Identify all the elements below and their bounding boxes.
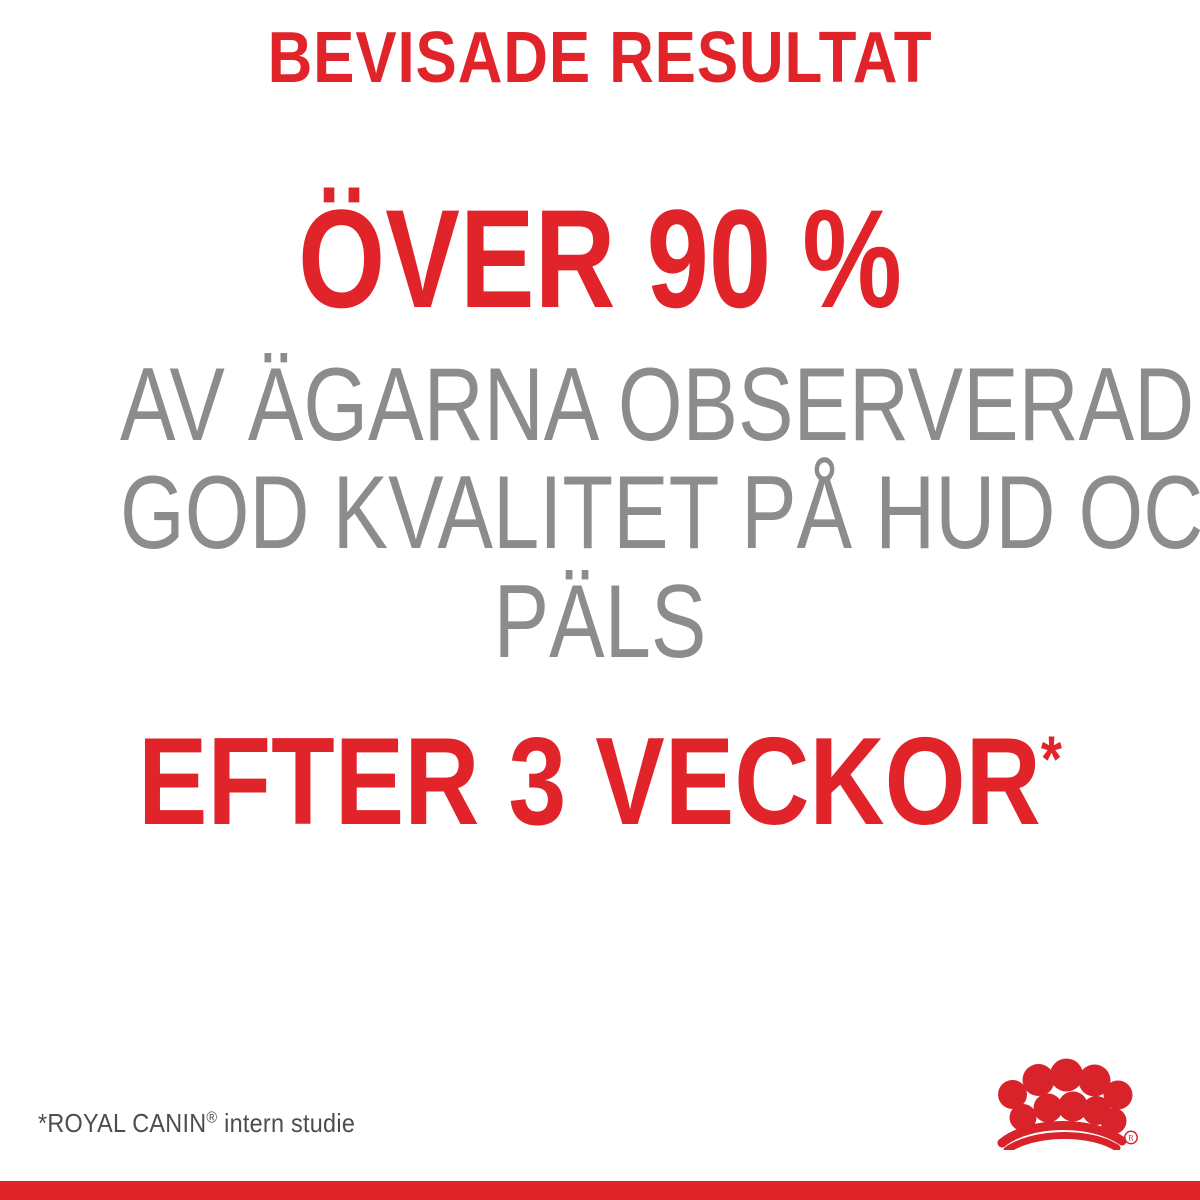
claim-highlight: ÖVER 90 %	[120, 190, 1080, 327]
claim-closing: EFTER 3 VECKOR*	[96, 720, 1104, 844]
royal-canin-claim-poster: BEVISADE RESULTAT ÖVER 90 % AV ÄGARNA OB…	[0, 0, 1200, 1200]
claim-closing-asterisk: *	[1041, 723, 1062, 795]
claim-body-line-3: PÄLS	[120, 568, 1080, 676]
claim-closing-wrap: EFTER 3 VECKOR*	[0, 720, 1200, 844]
crown-dot-upper-2	[1023, 1064, 1055, 1096]
footnote-brand: ROYAL CANIN	[47, 1108, 206, 1138]
crown-arc-lower	[1007, 1135, 1117, 1150]
footnote-registered-mark: ®	[206, 1108, 217, 1126]
logo-registered-mark: R	[1125, 1131, 1137, 1143]
crown-arcs-group	[1002, 1125, 1122, 1150]
claim-body: AV ÄGARNA OBSERVERADE GOD KVALITET PÅ HU…	[0, 351, 1200, 675]
footnote: *ROYAL CANIN® intern studie	[38, 1108, 355, 1139]
svg-text:R: R	[1128, 1133, 1134, 1142]
page-title: BEVISADE RESULTAT	[84, 22, 1116, 94]
crown-dot-upper-3	[1050, 1059, 1083, 1092]
footnote-marker: *	[38, 1108, 47, 1138]
claim-body-line-2: GOD KVALITET PÅ HUD OCH	[120, 459, 1080, 567]
royal-canin-crown-logo: R	[985, 1058, 1140, 1150]
claim-body-line-1: AV ÄGARNA OBSERVERADE	[120, 351, 1080, 459]
bottom-accent-bar	[0, 1181, 1200, 1200]
claim-block: ÖVER 90 % AV ÄGARNA OBSERVERADE GOD KVAL…	[0, 190, 1200, 844]
footnote-text: intern studie	[217, 1108, 355, 1138]
claim-closing-text: EFTER 3 VECKOR	[138, 713, 1041, 851]
